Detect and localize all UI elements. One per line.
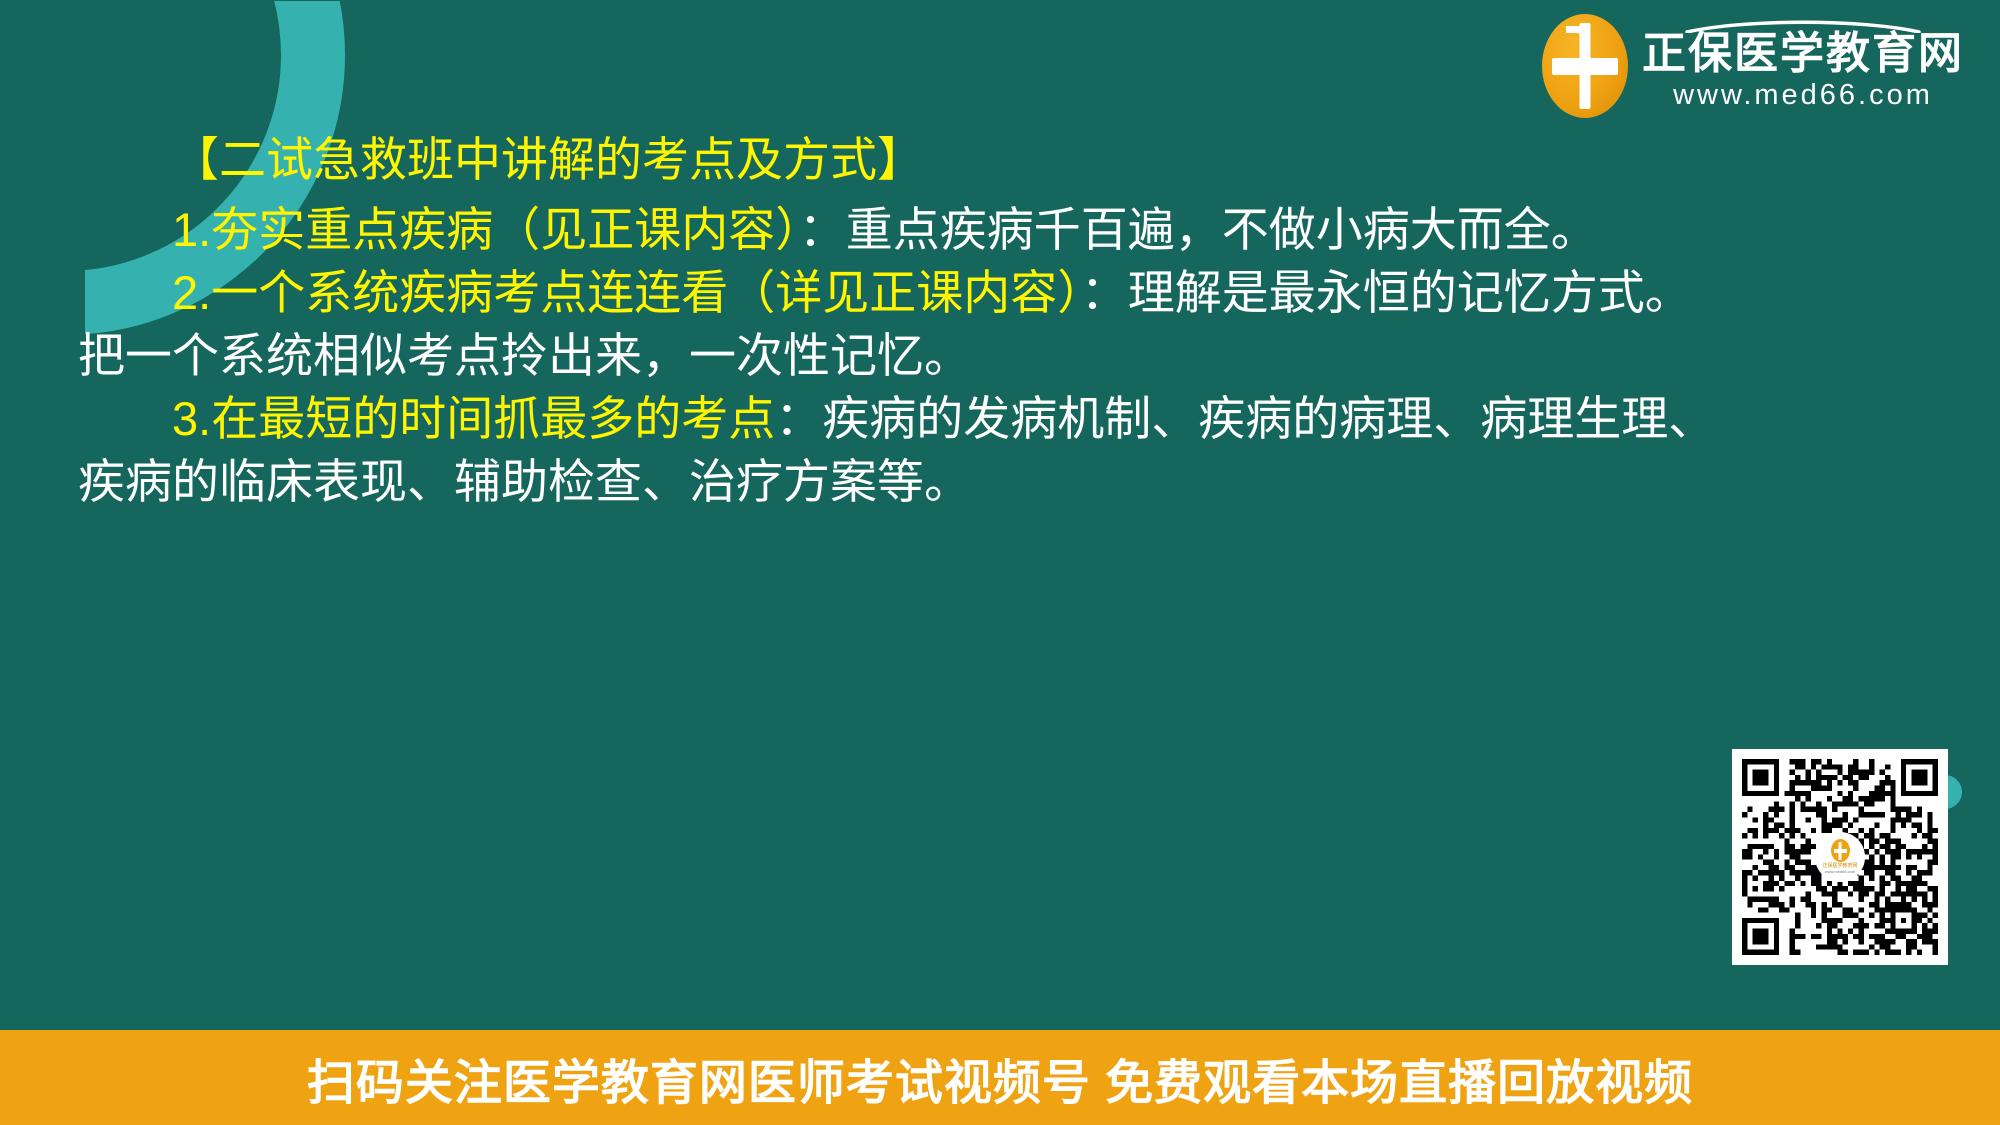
slide-content: 【二试急救班中讲解的考点及方式】 1.夯实重点疾病（见正课内容）：重点疾病千百遍…	[78, 128, 1918, 513]
arc-mask-left	[0, 0, 85, 335]
med66-cross-icon	[1542, 14, 1628, 118]
list-item-3-continuation: 疾病的临床表现、辅助检查、治疗方案等。	[78, 450, 1918, 513]
qr-code[interactable]: 正保医学教育网 www.med66.com	[1732, 749, 1948, 965]
qr-center-url: www.med66.com	[1825, 870, 1855, 875]
qr-code-image: 正保医学教育网 www.med66.com	[1742, 759, 1938, 955]
list-item-1-rest: ：重点疾病千百遍，不做小病大而全。	[799, 203, 1598, 256]
list-item-3: 3.在最短的时间抓最多的考点：疾病的发病机制、疾病的病理、病理生理、	[78, 387, 1918, 450]
arc-mask-top	[0, 0, 345, 1]
list-item-2-rest: ：理解是最永恒的记忆方式。	[1081, 266, 1692, 319]
qr-cross-horizontal	[1834, 849, 1847, 853]
list-item-3-highlight: 3.在最短的时间抓最多的考点	[172, 392, 775, 445]
cross-horizontal-shape	[1552, 58, 1618, 75]
qr-center-cross-icon	[1831, 839, 1850, 862]
list-item-3-rest: ：疾病的发病机制、疾病的病理、病理生理、	[775, 392, 1715, 445]
brand-url: www.med66.com	[1673, 79, 1933, 112]
qr-center-logo: 正保医学教育网 www.med66.com	[1815, 832, 1865, 882]
list-item-1: 1.夯实重点疾病（见正课内容）：重点疾病千百遍，不做小病大而全。	[78, 198, 1918, 261]
bottom-banner: 扫码关注医学教育网医师考试视频号 免费观看本场直播回放视频	[0, 1030, 2000, 1125]
brand-logo-text: 正保医学教育网 www.med66.com	[1642, 19, 1964, 113]
list-item-1-highlight: 1.夯实重点疾病（见正课内容）	[172, 203, 799, 256]
bottom-banner-text: 扫码关注医学教育网医师考试视频号 免费观看本场直播回放视频	[307, 1043, 1693, 1113]
brand-name: 正保医学教育网	[1642, 31, 1964, 77]
list-item-2-continuation: 把一个系统相似考点拎出来，一次性记忆。	[78, 324, 1918, 387]
content-heading: 【二试急救班中讲解的考点及方式】	[78, 128, 1918, 191]
slide-canvas: 正保医学教育网 www.med66.com 【二试急救班中讲解的考点及方式】 1…	[0, 0, 2000, 1125]
brand-logo: 正保医学教育网 www.med66.com	[1542, 14, 1964, 118]
list-item-2: 2.一个系统疾病考点连连看（详见正课内容）：理解是最永恒的记忆方式。	[78, 261, 1918, 324]
list-item-2-highlight: 2.一个系统疾病考点连连看（详见正课内容）	[172, 266, 1081, 319]
